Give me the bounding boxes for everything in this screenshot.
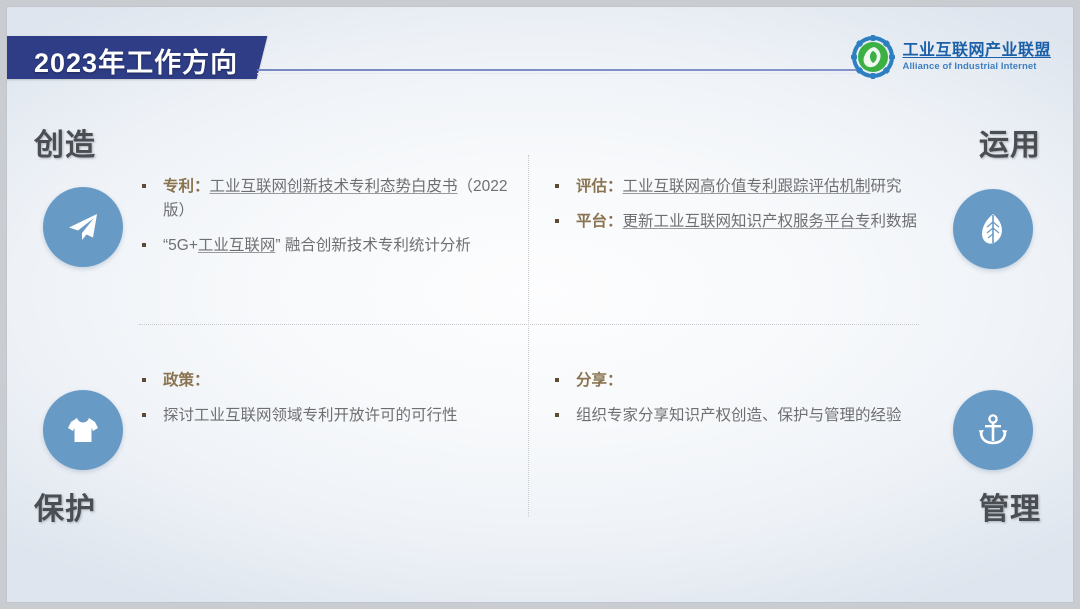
icon-badge-create [43, 187, 123, 267]
list-item: 评估：工业互联网高价值专利跟踪评估机制研究 [552, 175, 942, 199]
bullet-list-protect: 政策： 探讨工业互联网领域专利开放许可的可行性 [139, 369, 524, 428]
list-item: 平台：更新工业互联网知识产权服务平台专利数据 [552, 210, 942, 234]
organization-logo: 工业互联网产业联盟 Alliance of Industrial Interne… [851, 35, 1051, 79]
bullet-list-apply: 评估：工业互联网高价值专利跟踪评估机制研究 平台：更新工业互联网知识产权服务平台… [552, 175, 942, 234]
slide-canvas: 2023年工作方向 [6, 6, 1074, 603]
bullet-label: 平台： [576, 213, 623, 230]
bullet-label: 专利： [163, 178, 210, 195]
quadrant-manage-content: 分享： 组织专家分享知识产权创造、保护与管理的经验 [552, 369, 942, 439]
icon-badge-apply [953, 189, 1033, 269]
leaf-icon [973, 209, 1013, 249]
icon-badge-protect [43, 390, 123, 470]
bullet-underlined-text: 工业互联网创新技术专利态势白皮书 [210, 178, 458, 195]
list-item: 分享： [552, 369, 942, 393]
paper-plane-icon [63, 207, 103, 247]
header-divider-line [257, 69, 862, 71]
bullet-prefix-text: “5G+ [163, 237, 198, 254]
horizontal-divider [139, 324, 919, 325]
header-divider-line-secondary [257, 73, 862, 74]
page-title: 2023年工作方向 [34, 41, 238, 80]
list-item: 探讨工业互联网领域专利开放许可的可行性 [139, 404, 524, 428]
bullet-plain-text: 利数据 [871, 213, 918, 230]
bullet-list-create: 专利：工业互联网创新技术专利态势白皮书（2022版） “5G+工业互联网” 融合… [139, 175, 524, 258]
list-item: 专利：工业互联网创新技术专利态势白皮书（2022版） [139, 175, 524, 223]
quadrant-protect-content: 政策： 探讨工业互联网领域专利开放许可的可行性 [139, 369, 524, 439]
corner-label-create: 创造 [34, 120, 96, 164]
anchor-icon [973, 410, 1013, 450]
list-item: 组织专家分享知识产权创造、保护与管理的经验 [552, 404, 942, 428]
bullet-list-manage: 分享： 组织专家分享知识产权创造、保护与管理的经验 [552, 369, 942, 428]
icon-badge-manage [953, 390, 1033, 470]
bullet-underlined-text: 工业互联网 [198, 237, 276, 254]
bullet-label: 分享： [576, 372, 623, 389]
corner-label-protect: 保护 [34, 484, 96, 528]
vertical-divider [528, 155, 529, 517]
bullet-plain-text: ” 融合创新技术专利统计分析 [275, 237, 470, 254]
t-shirt-icon [63, 410, 103, 450]
list-item: 政策： [139, 369, 524, 393]
logo-name-en: Alliance of Industrial Internet [902, 62, 1051, 72]
gear-leaf-logo-icon [851, 35, 895, 79]
bullet-label: 评估： [576, 178, 623, 195]
corner-label-apply: 运用 [979, 120, 1041, 164]
bullet-underlined-text: 工业互联网高价值专利跟踪评估机制 [623, 178, 871, 195]
bullet-plain-text: 探讨工业互联网领域专利开放许可的可行性 [163, 407, 458, 424]
corner-label-manage: 管理 [979, 484, 1041, 528]
quadrant-create-content: 专利：工业互联网创新技术专利态势白皮书（2022版） “5G+工业互联网” 融合… [139, 175, 524, 269]
bullet-underlined-text: 更新工业互联网知识产权服务平台专 [623, 213, 871, 230]
quadrant-apply-content: 评估：工业互联网高价值专利跟踪评估机制研究 平台：更新工业互联网知识产权服务平台… [552, 175, 942, 245]
logo-name-cn: 工业互联网产业联盟 [902, 43, 1051, 59]
bullet-plain-text: 组织专家分享知识产权创造、保护与管理的经验 [576, 407, 902, 424]
bullet-label: 政策： [163, 372, 210, 389]
bullet-plain-text: 研究 [871, 178, 902, 195]
list-item: “5G+工业互联网” 融合创新技术专利统计分析 [139, 234, 524, 258]
